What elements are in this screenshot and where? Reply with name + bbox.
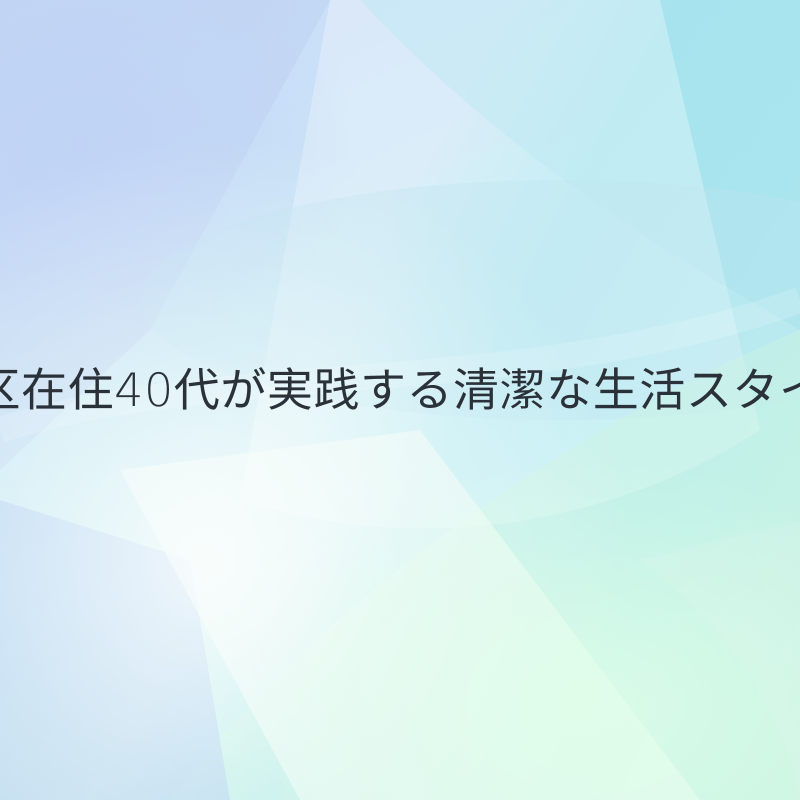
title-card-canvas: 田谷区在住40代が実践する清潔な生活スタイルと — [0, 0, 800, 800]
headline-text: 田谷区在住40代が実践する清潔な生活スタイルと — [0, 363, 800, 417]
headline-band: 田谷区在住40代が実践する清潔な生活スタイルと — [0, 344, 800, 436]
